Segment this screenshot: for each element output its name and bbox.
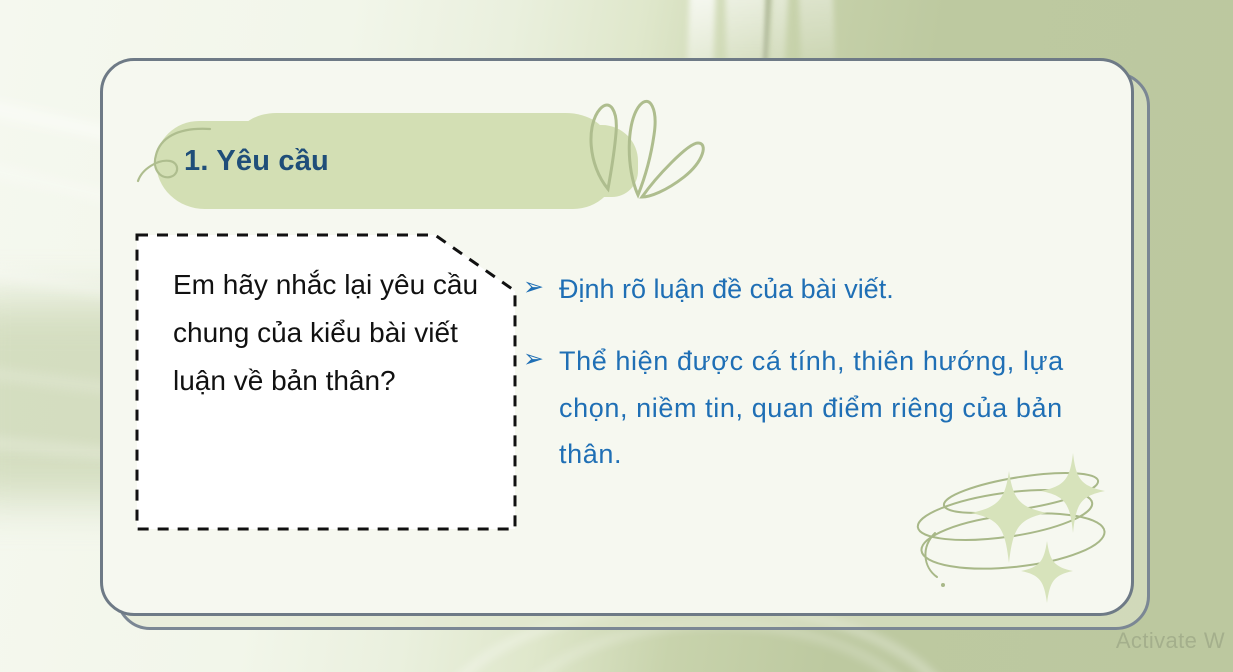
section-heading: 1. Yêu cầu xyxy=(128,103,748,221)
slide-canvas: 1. Yêu cầu Em hãy nhắc lại yêu cầu chung… xyxy=(0,0,1233,672)
content-card: 1. Yêu cầu Em hãy nhắc lại yêu cầu chung… xyxy=(100,58,1134,616)
question-text: Em hãy nhắc lại yêu cầu chung của kiểu b… xyxy=(173,261,493,405)
list-item: ➢ Định rõ luận đề của bài viết. xyxy=(523,266,1103,312)
question-box: Em hãy nhắc lại yêu cầu chung của kiểu b… xyxy=(135,233,517,531)
list-item-label: Định rõ luận đề của bài viết. xyxy=(559,266,1103,312)
arrow-bullet-icon: ➢ xyxy=(523,338,559,381)
page-title: 1. Yêu cầu xyxy=(184,145,329,178)
arrow-bullet-icon: ➢ xyxy=(523,266,559,309)
sparkle-stars-icon xyxy=(913,437,1123,607)
leaf-loops-icon xyxy=(580,85,710,205)
